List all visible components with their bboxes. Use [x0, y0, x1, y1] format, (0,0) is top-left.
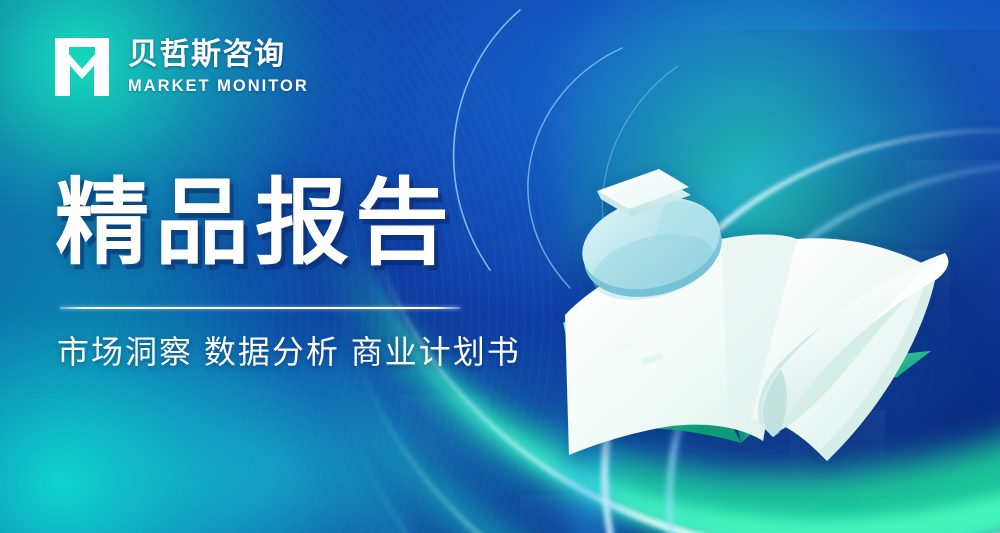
brand-logo-text: 贝哲斯咨询 MARKET MONITOR: [128, 39, 309, 96]
brand-logo[interactable]: 贝哲斯咨询 MARKET MONITOR: [53, 36, 309, 98]
page-title: 精品报告: [55, 176, 455, 270]
title-divider: [60, 307, 460, 309]
page-subtitle: 市场洞察 数据分析 商业计划书: [57, 332, 521, 372]
report-banner: 贝哲斯咨询 MARKET MONITOR 精品报告 市场洞察 数据分析 商业计划…: [0, 0, 1000, 533]
brand-name-en: MARKET MONITOR: [128, 77, 309, 95]
open-book-illustration: [545, 155, 975, 485]
brand-name-cn: 贝哲斯咨询: [128, 39, 309, 71]
market-monitor-m-logo-icon: [53, 36, 111, 98]
